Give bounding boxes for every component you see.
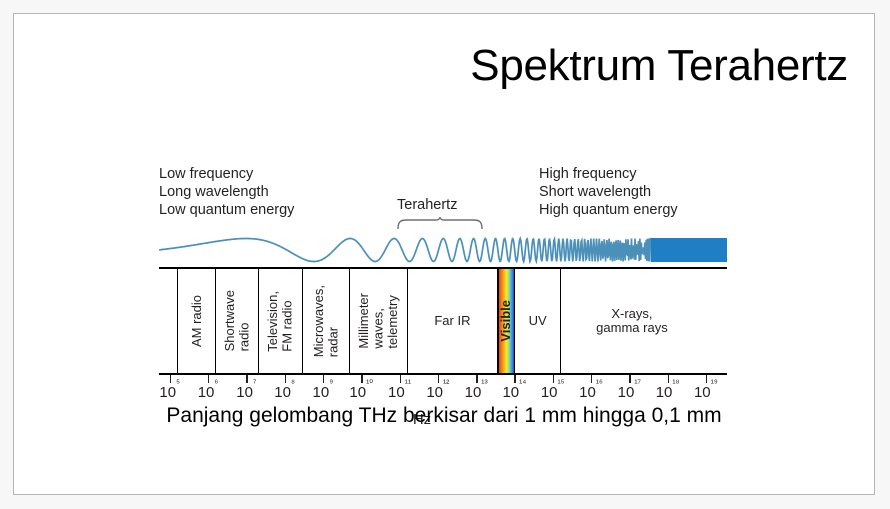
axis-tick bbox=[591, 375, 592, 383]
spectrum-band-microwaves-radar: Microwaves, radar bbox=[303, 269, 351, 373]
spectrum-band-spacer bbox=[159, 269, 178, 373]
spectrum-band-label: X-rays, gamma rays bbox=[596, 307, 668, 336]
axis-tick-label: 10¹⁹ bbox=[694, 383, 718, 401]
axis-tick-label: 10⁵ bbox=[159, 383, 180, 401]
annotation-right-line-1: High frequency bbox=[539, 165, 678, 183]
spectrum-band-label: AM radio bbox=[190, 295, 205, 347]
annotation-high-frequency: High frequency Short wavelength High qua… bbox=[539, 165, 678, 219]
slide-canvas: Spektrum Terahertz Low frequency Long wa… bbox=[13, 13, 875, 495]
spectrum-band-label: UV bbox=[529, 314, 547, 329]
spectrum-band-uv: UV bbox=[515, 269, 561, 373]
axis-tick bbox=[170, 375, 171, 383]
spectrum-band-label: Television, FM radio bbox=[266, 291, 295, 352]
spectrum-band-television-fm-radio: Television, FM radio bbox=[259, 269, 303, 373]
axis-tick-label: 10¹⁵ bbox=[541, 383, 565, 401]
spectrum-band-far-ir: Far IR bbox=[408, 269, 498, 373]
axis-tick bbox=[246, 375, 247, 383]
terahertz-bracket-label: Terahertz bbox=[397, 197, 457, 213]
spectrum-band-millimeter-waves-telemetry: Millimeter waves, telemetry bbox=[350, 269, 407, 373]
axis-tick bbox=[514, 375, 515, 383]
spectrum-band-visible: Visible bbox=[498, 269, 515, 373]
axis-tick bbox=[438, 375, 439, 383]
axis-tick-label: 10⁷ bbox=[236, 383, 256, 401]
axis-tick-label: 10⁹ bbox=[313, 383, 334, 401]
spectrum-band-label: Far IR bbox=[434, 314, 470, 329]
axis-tick bbox=[668, 375, 669, 383]
spectrum-band-row: AM radioShortwave radioTelevision, FM ra… bbox=[159, 267, 727, 375]
axis-tick bbox=[285, 375, 286, 383]
axis-tick bbox=[553, 375, 554, 383]
axis-tick-label: 10⁸ bbox=[274, 383, 295, 401]
axis-tick-label: 10¹³ bbox=[465, 383, 488, 401]
axis-tick bbox=[629, 375, 630, 383]
spectrum-band-label: Microwaves, radar bbox=[312, 285, 341, 357]
axis-tick bbox=[400, 375, 401, 383]
spectrum-wave-graphic bbox=[159, 231, 727, 269]
axis-tick-label: 10¹² bbox=[426, 383, 449, 401]
axis-tick-label: 10¹⁰ bbox=[349, 383, 373, 401]
axis-tick-label: 10¹¹ bbox=[388, 383, 411, 401]
axis-tick-label: 10¹⁴ bbox=[502, 383, 526, 401]
axis-tick-label: 10¹⁷ bbox=[618, 383, 641, 401]
spectrum-band-x-rays-gamma-rays: X-rays, gamma rays bbox=[561, 269, 703, 373]
axis-tick bbox=[706, 375, 707, 383]
annotation-left-line-2: Long wavelength bbox=[159, 183, 294, 201]
spectrum-band-label: Shortwave radio bbox=[223, 290, 252, 351]
spectrum-band-shortwave-radio: Shortwave radio bbox=[216, 269, 258, 373]
slide-caption: Panjang gelombang THz berkisar dari 1 mm… bbox=[14, 404, 874, 428]
axis-tick bbox=[361, 375, 362, 383]
annotation-low-frequency: Low frequency Long wavelength Low quantu… bbox=[159, 165, 294, 219]
axis-tick-label: 10⁶ bbox=[198, 383, 219, 401]
annotation-right-line-3: High quantum energy bbox=[539, 201, 678, 219]
spectrum-figure: Low frequency Long wavelength Low quantu… bbox=[139, 139, 734, 444]
spectrum-band-label: Visible bbox=[499, 300, 514, 342]
axis-tick bbox=[208, 375, 209, 383]
page-title: Spektrum Terahertz bbox=[470, 41, 848, 91]
spectrum-band-label: Millimeter waves, telemetry bbox=[357, 293, 401, 349]
annotation-left-line-1: Low frequency bbox=[159, 165, 294, 183]
axis-tick-label: 10¹⁶ bbox=[579, 383, 603, 401]
annotation-right-line-2: Short wavelength bbox=[539, 183, 678, 201]
terahertz-bracket-icon bbox=[397, 217, 483, 230]
axis-tick bbox=[323, 375, 324, 383]
annotation-left-line-3: Low quantum energy bbox=[159, 201, 294, 219]
spectrum-band-am-radio: AM radio bbox=[178, 269, 216, 373]
axis-tick bbox=[476, 375, 477, 383]
axis-tick-label: 10¹⁸ bbox=[656, 383, 680, 401]
